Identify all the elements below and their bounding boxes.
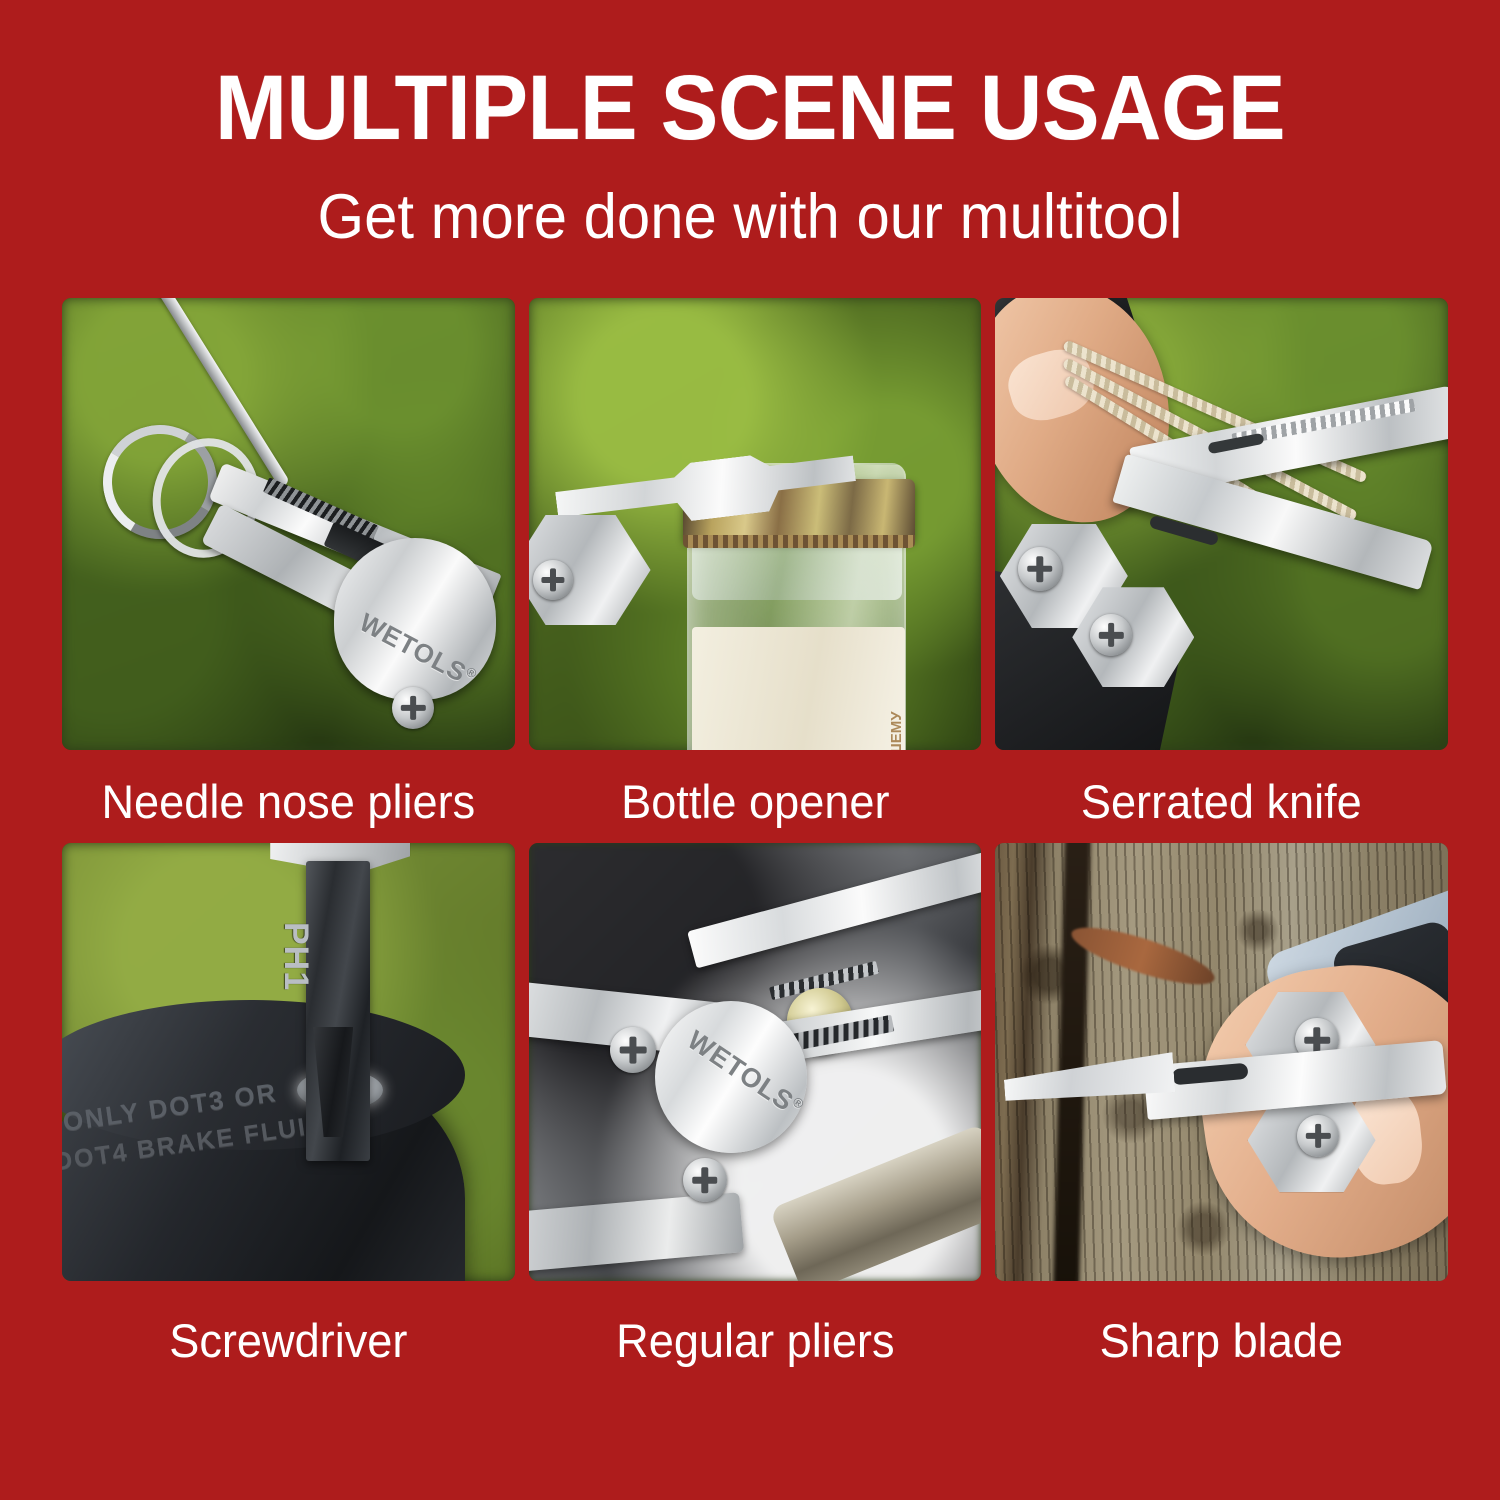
page-subtitle: Get more done with our multitool [38, 154, 1463, 249]
caption-serrated-knife: Serrated knife [1004, 750, 1439, 843]
feature-cell-screwdriver: ONLY DOT3 OR DOT4 BRAKE FLUID PH1 Screwd… [62, 843, 515, 1382]
page-title: MULTIPLE SCENE USAGE [45, 0, 1455, 154]
photo-bottle-opener: ЧРЕЗМЕРНОЕ ВРЕДИТ ВАШЕМУ [529, 298, 982, 750]
feature-cell-bottle-opener: ЧРЕЗМЕРНОЕ ВРЕДИТ ВАШЕМУ Bottle opener [529, 298, 982, 843]
bottle-label-text: ЧРЕЗМЕРНОЕ ВРЕДИТ ВАШЕМУ [888, 741, 905, 750]
photo-serrated-knife [995, 298, 1448, 750]
bit-marking-label: PH1 [276, 922, 315, 991]
feature-grid: WETOLS® Needle nose pliers ЧРЕЗМЕРНОЕ ВР… [62, 298, 1448, 1382]
pivot-screw-upper [1018, 547, 1062, 591]
caption-bottle-opener: Bottle opener [538, 750, 973, 843]
bottle-label [692, 627, 905, 750]
feature-cell-needle-nose-pliers: WETOLS® Needle nose pliers [62, 298, 515, 843]
header: MULTIPLE SCENE USAGE Get more done with … [0, 0, 1500, 249]
pivot-screw-lower [1297, 1115, 1339, 1157]
pivot-screw-upper [610, 1027, 656, 1073]
feature-cell-sharp-blade: Sharp blade [995, 843, 1448, 1382]
caption-sharp-blade: Sharp blade [1004, 1281, 1439, 1382]
feature-cell-regular-pliers: WETOLS® Regular pliers [529, 843, 982, 1382]
pivot-screw-lower [683, 1158, 727, 1202]
brand-imprint: WETOLS® [354, 606, 481, 693]
photo-regular-pliers: WETOLS® [529, 843, 982, 1281]
plier-head-plate: WETOLS® [334, 538, 496, 700]
poster-root: MULTIPLE SCENE USAGE Get more done with … [0, 0, 1500, 1500]
photo-sharp-blade [995, 843, 1448, 1281]
brand-imprint: WETOLS® [682, 1024, 809, 1123]
plier-head-plate: WETOLS® [655, 1001, 807, 1153]
photo-needle-nose-pliers: WETOLS® [62, 298, 515, 750]
caption-needle-nose-pliers: Needle nose pliers [71, 750, 506, 843]
photo-screwdriver: ONLY DOT3 OR DOT4 BRAKE FLUID PH1 [62, 843, 515, 1281]
caption-screwdriver: Screwdriver [71, 1281, 506, 1382]
caption-regular-pliers: Regular pliers [538, 1281, 973, 1382]
feature-cell-serrated-knife: Serrated knife [995, 298, 1448, 843]
pivot-screw [392, 687, 434, 729]
bottle-cap-crimp [683, 535, 915, 548]
